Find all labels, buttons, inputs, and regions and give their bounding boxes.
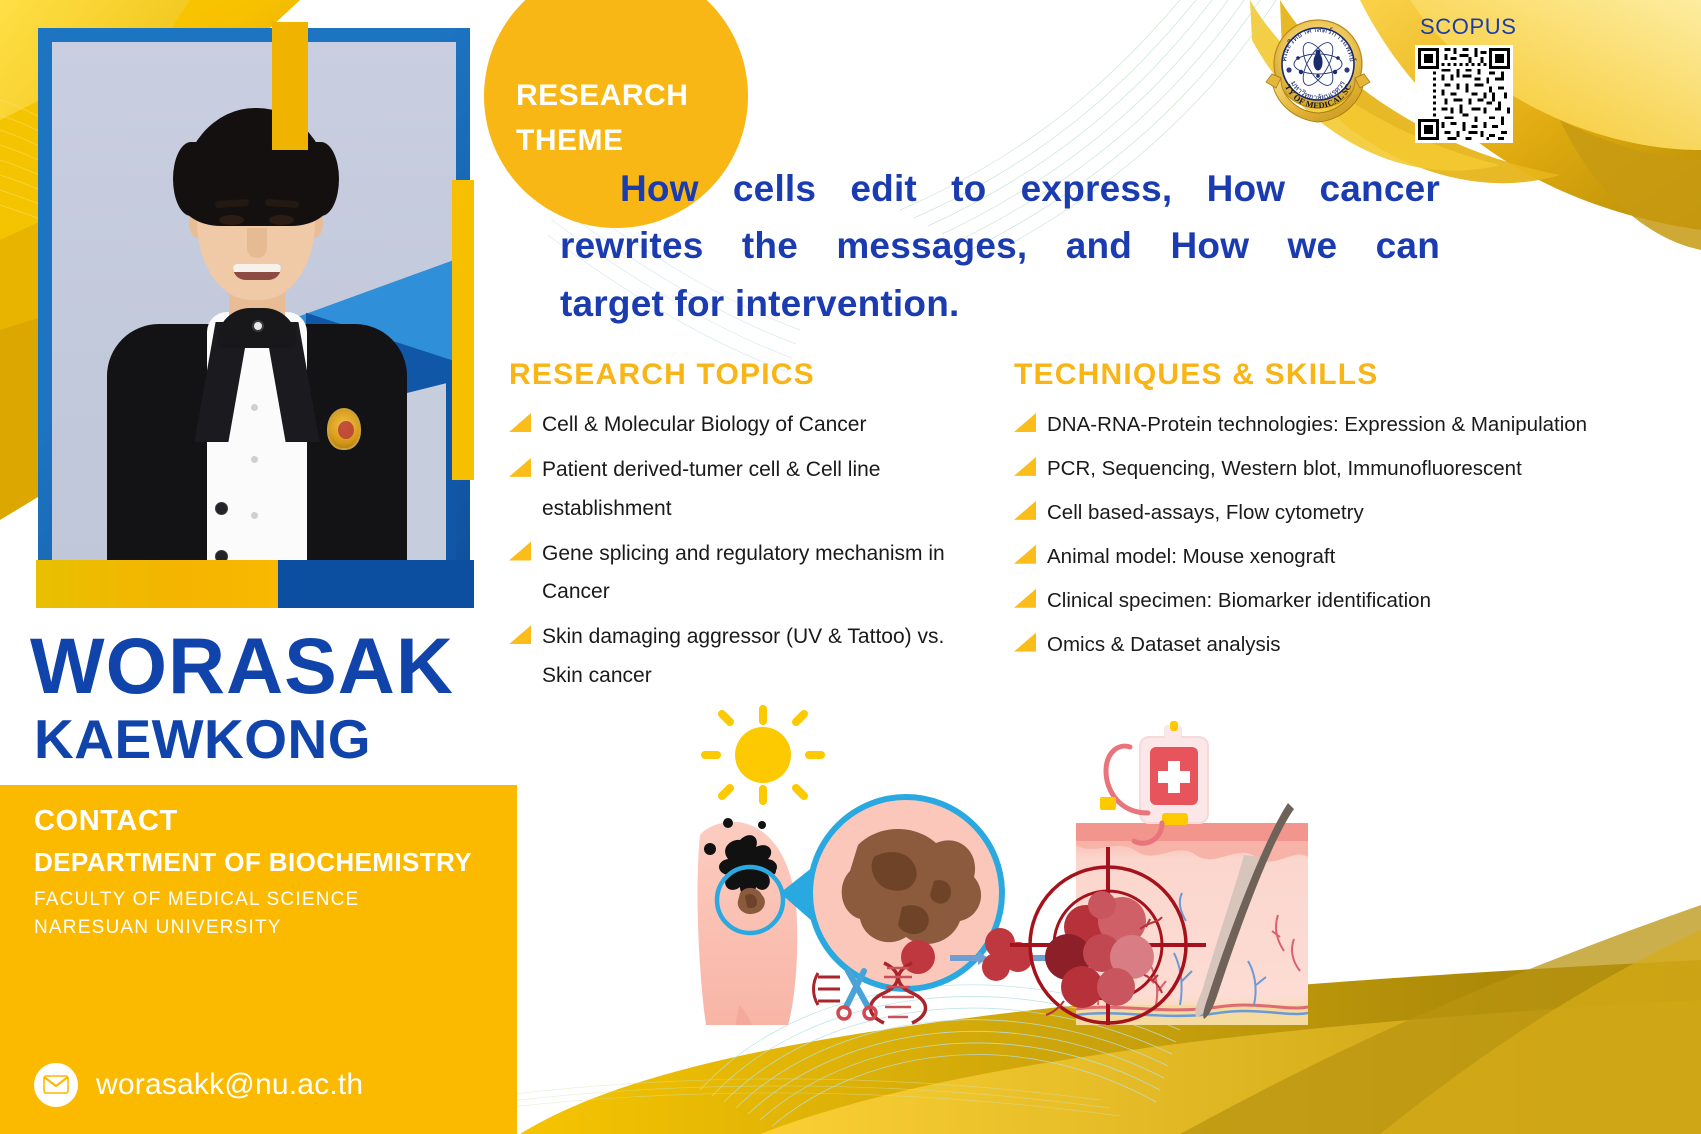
techniques-skills-section: TECHNIQUES & SKILLS DNA-RNA-Protein tech… — [1014, 358, 1594, 670]
person-first-name: WORASAK — [30, 626, 454, 705]
techniques-skills-list: DNA-RNA-Protein technologies: Expression… — [1014, 406, 1594, 664]
contact-faculty: FACULTY OF MEDICAL SCIENCE — [34, 889, 359, 911]
portrait-person — [89, 108, 419, 586]
contact-panel: CONTACT DEPARTMENT OF BIOCHEMISTRY FACUL… — [0, 785, 517, 1035]
contact-email-row[interactable]: worasakk@nu.ac.th — [0, 1035, 517, 1134]
research-profile-poster: RESEARCH THEME How cells edit to express… — [0, 0, 1701, 1134]
contact-university: NARESUAN UNIVERSITY — [34, 917, 282, 939]
arrow-bullet-icon — [1014, 545, 1036, 564]
arrow-bullet-icon — [509, 413, 531, 432]
envelope-icon — [34, 1063, 78, 1107]
list-item: PCR, Sequencing, Western blot, Immunoflu… — [1014, 450, 1594, 488]
arrow-bullet-icon — [1014, 413, 1036, 432]
research-theme-line1: RESEARCH — [516, 73, 688, 118]
portrait-photo — [52, 42, 456, 586]
frame-accent-right — [452, 180, 474, 480]
research-theme-statement: How cells edit to express, How cancer re… — [560, 160, 1440, 332]
list-item-label: PCR, Sequencing, Western blot, Immunoflu… — [1047, 450, 1522, 488]
arrow-bullet-icon — [509, 625, 531, 644]
research-topics-heading: RESEARCH TOPICS — [509, 358, 979, 392]
frame-accent-top — [272, 22, 308, 150]
list-item: Gene splicing and regulatory mechanism i… — [509, 535, 979, 613]
scopus-label: SCOPUS — [1420, 14, 1517, 40]
list-item: Clinical specimen: Biomarker identificat… — [1014, 582, 1594, 620]
arrow-bullet-icon — [509, 542, 531, 561]
arrow-bullet-icon — [1014, 457, 1036, 476]
person-last-name: KAEWKONG — [34, 712, 371, 767]
faculty-of-medical-science-logo: คณะวิทยาศาสตร์การแพทย์ มหาวิทยาลัยนเรศวร… — [1258, 12, 1378, 134]
list-item: Cell & Molecular Biology of Cancer — [509, 406, 979, 445]
list-item-label: Omics & Dataset analysis — [1047, 626, 1281, 664]
tumor-cells-small — [982, 928, 1033, 981]
scopus-qr-code[interactable] — [1415, 45, 1513, 143]
list-item-label: Gene splicing and regulatory mechanism i… — [542, 535, 979, 613]
list-item-label: DNA-RNA-Protein technologies: Expression… — [1047, 406, 1587, 444]
list-item-label: Patient derived-tumer cell & Cell line e… — [542, 451, 979, 529]
techniques-skills-heading: TECHNIQUES & SKILLS — [1014, 358, 1594, 392]
contact-department: DEPARTMENT OF BIOCHEMISTRY — [34, 847, 472, 878]
theme-statement-line-2: rewrites the messages, and How we can — [560, 217, 1440, 274]
portrait-block — [0, 0, 500, 640]
arrow-bullet-icon — [1014, 589, 1036, 608]
theme-statement-line-3: target for intervention. — [560, 275, 1440, 332]
list-item-label: Cell based-assays, Flow cytometry — [1047, 494, 1364, 532]
list-item: Omics & Dataset analysis — [1014, 626, 1594, 664]
list-item: Cell based-assays, Flow cytometry — [1014, 494, 1594, 532]
research-topics-section: RESEARCH TOPICS Cell & Molecular Biology… — [509, 358, 979, 702]
list-item: Patient derived-tumer cell & Cell line e… — [509, 451, 979, 529]
list-item: Animal model: Mouse xenograft — [1014, 538, 1594, 576]
contact-heading: CONTACT — [34, 805, 178, 838]
arrow-bullet-icon — [509, 458, 531, 477]
arrow-bullet-icon — [1014, 501, 1036, 520]
research-theme-line2: THEME — [516, 118, 624, 163]
contact-email-address[interactable]: worasakk@nu.ac.th — [96, 1068, 363, 1102]
uniform-badge-icon — [327, 408, 361, 450]
list-item-label: Clinical specimen: Biomarker identificat… — [1047, 582, 1431, 620]
skin-cancer-research-illustration — [688, 705, 1308, 1025]
list-item: Skin damaging aggressor (UV & Tattoo) vs… — [509, 618, 979, 696]
frame-accent-bottom-yellow — [36, 560, 278, 608]
list-item: DNA-RNA-Protein technologies: Expression… — [1014, 406, 1594, 444]
list-item-label: Cell & Molecular Biology of Cancer — [542, 406, 866, 445]
list-item-label: Animal model: Mouse xenograft — [1047, 538, 1335, 576]
sun-icon — [705, 709, 821, 801]
arrow-bullet-icon — [1014, 633, 1036, 652]
list-item-label: Skin damaging aggressor (UV & Tattoo) vs… — [542, 618, 979, 696]
frame-accent-bottom-blue — [278, 560, 474, 608]
theme-statement-line-1: How cells edit to express, How cancer — [560, 160, 1440, 217]
research-topics-list: Cell & Molecular Biology of Cancer Patie… — [509, 406, 979, 696]
